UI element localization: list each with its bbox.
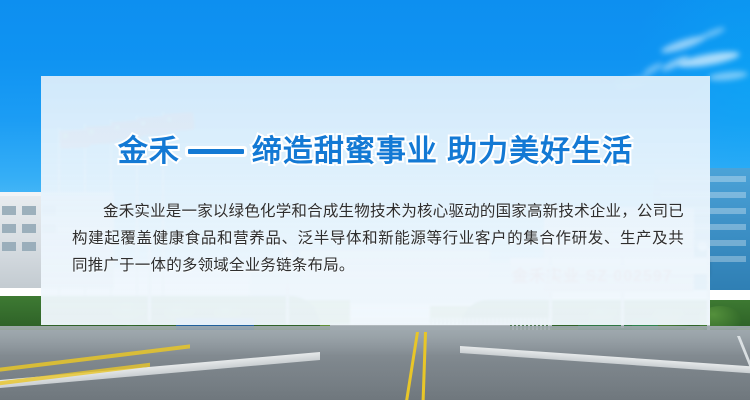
window: [2, 206, 16, 215]
company-description: 金禾实业是一家以绿色化学和合成生物技术为核心驱动的国家高新技术企业，公司已构建起…: [72, 198, 684, 279]
company-promo-banner: 金禾实业 SZ 002597 热烈庆祝金禾实业 创新发展 铸就未来: [0, 0, 750, 400]
window: [22, 242, 36, 251]
window: [22, 206, 36, 215]
brand-name: 金禾: [118, 135, 180, 168]
window: [22, 224, 36, 233]
window: [2, 224, 16, 233]
banner-headline: 金禾缔造甜蜜事业 助力美好生活: [41, 126, 710, 170]
window: [2, 242, 16, 251]
headline-tagline: 缔造甜蜜事业 助力美好生活: [252, 135, 633, 168]
headline-dash-icon: [188, 149, 244, 154]
